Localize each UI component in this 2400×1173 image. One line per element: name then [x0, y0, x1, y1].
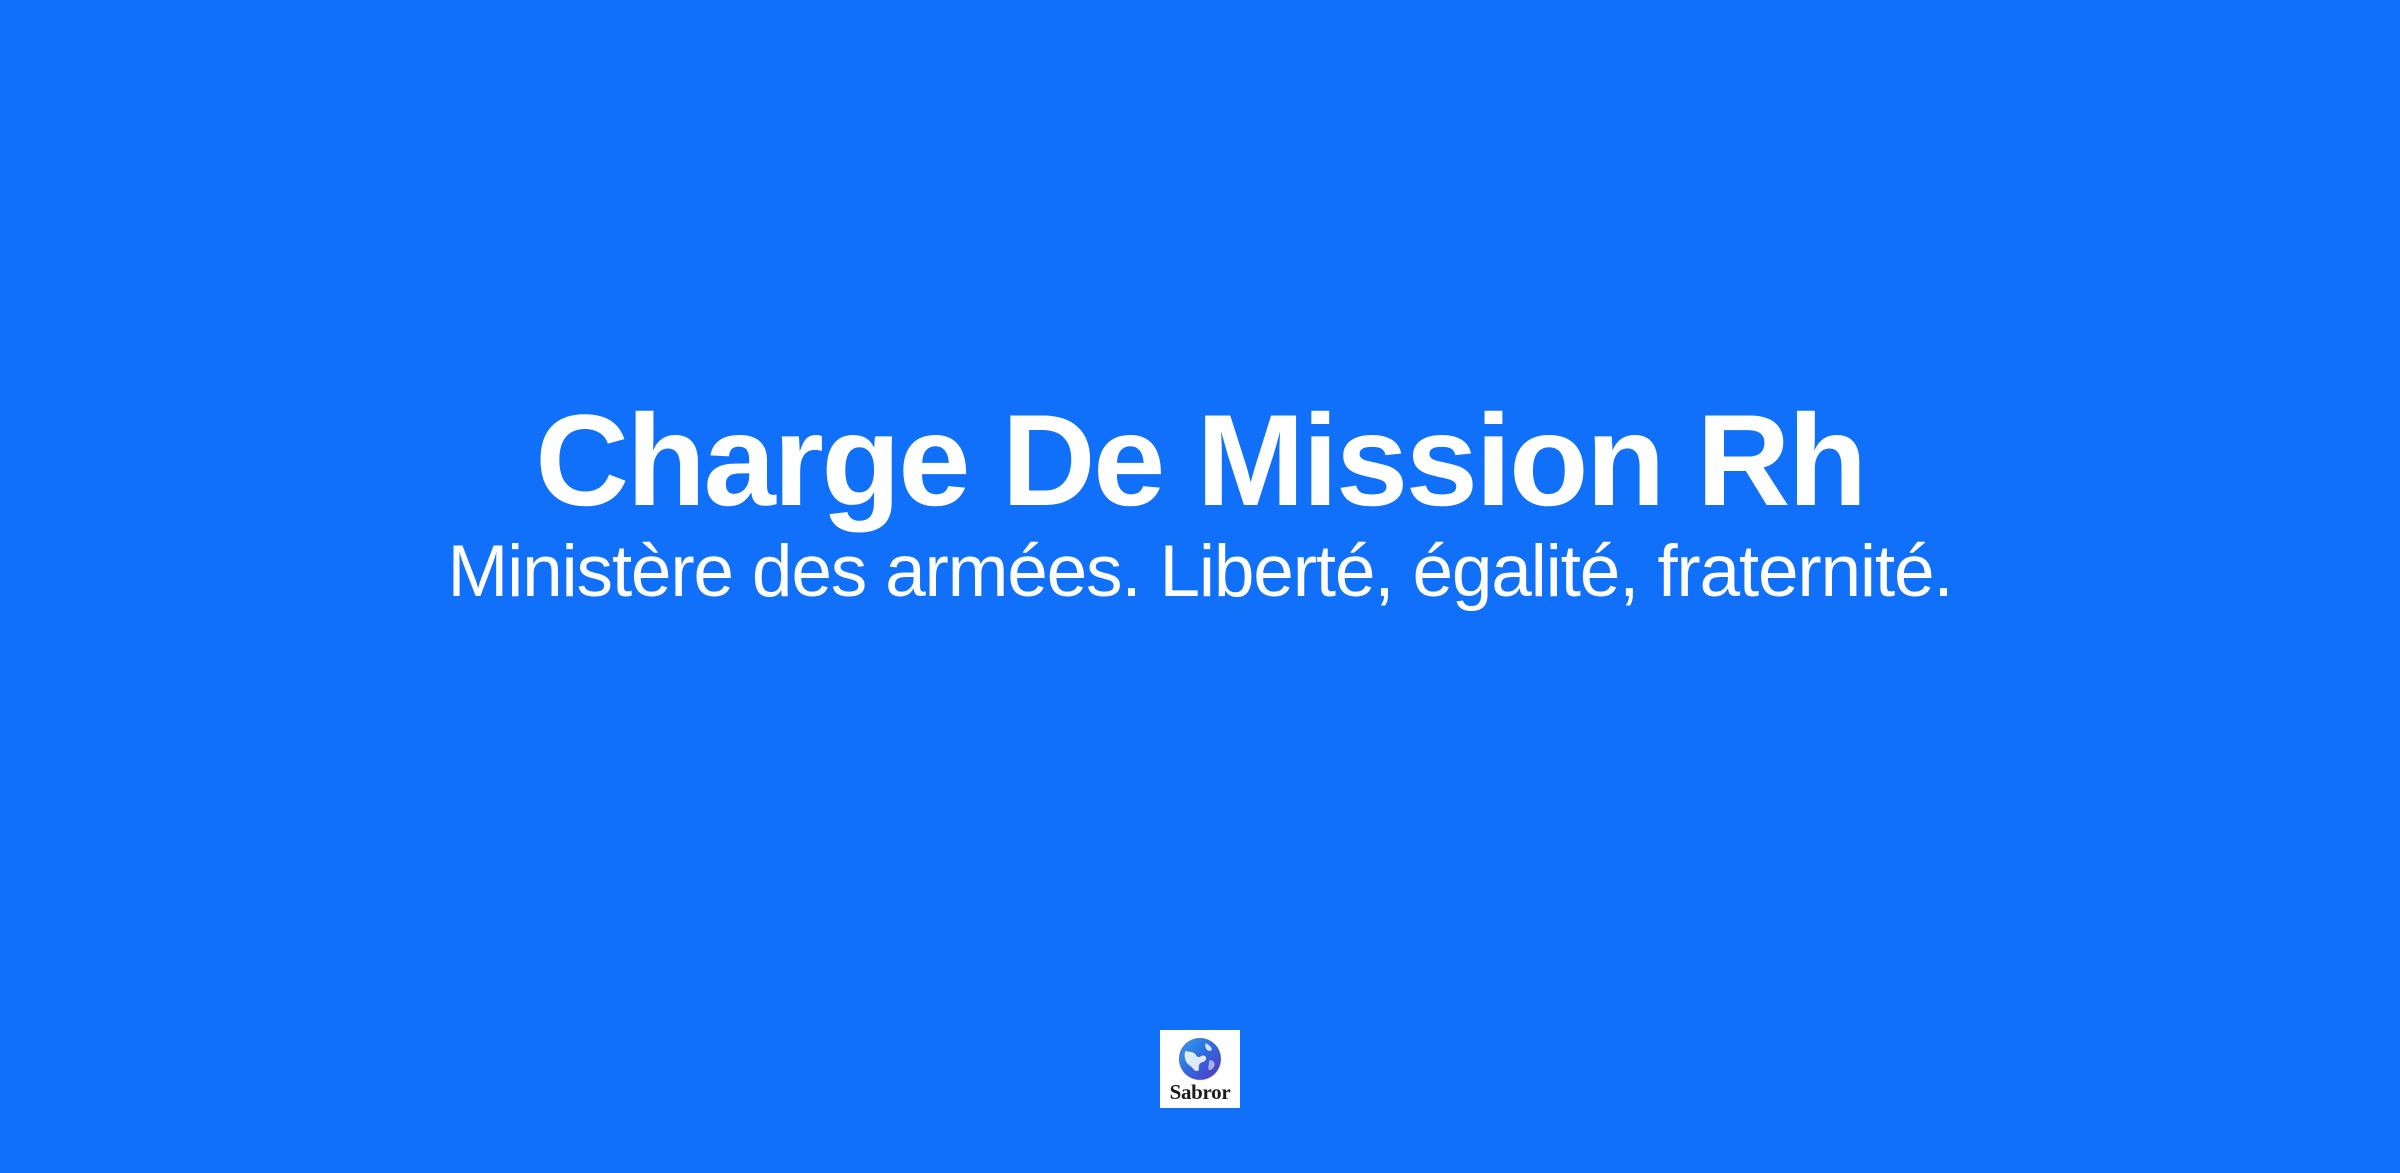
splash-screen: Charge De Mission Rh Ministère des armée…: [0, 0, 2400, 1173]
brand-name: Sabror: [1170, 1081, 1231, 1104]
page-title: Charge De Mission Rh: [535, 392, 1865, 528]
brand-logo[interactable]: Sabror: [1160, 1030, 1240, 1108]
page-subtitle: Ministère des armées. Liberté, égalité, …: [448, 528, 1953, 616]
globe-icon: [1178, 1037, 1222, 1081]
hero-section: Charge De Mission Rh Ministère des armée…: [0, 392, 2400, 616]
